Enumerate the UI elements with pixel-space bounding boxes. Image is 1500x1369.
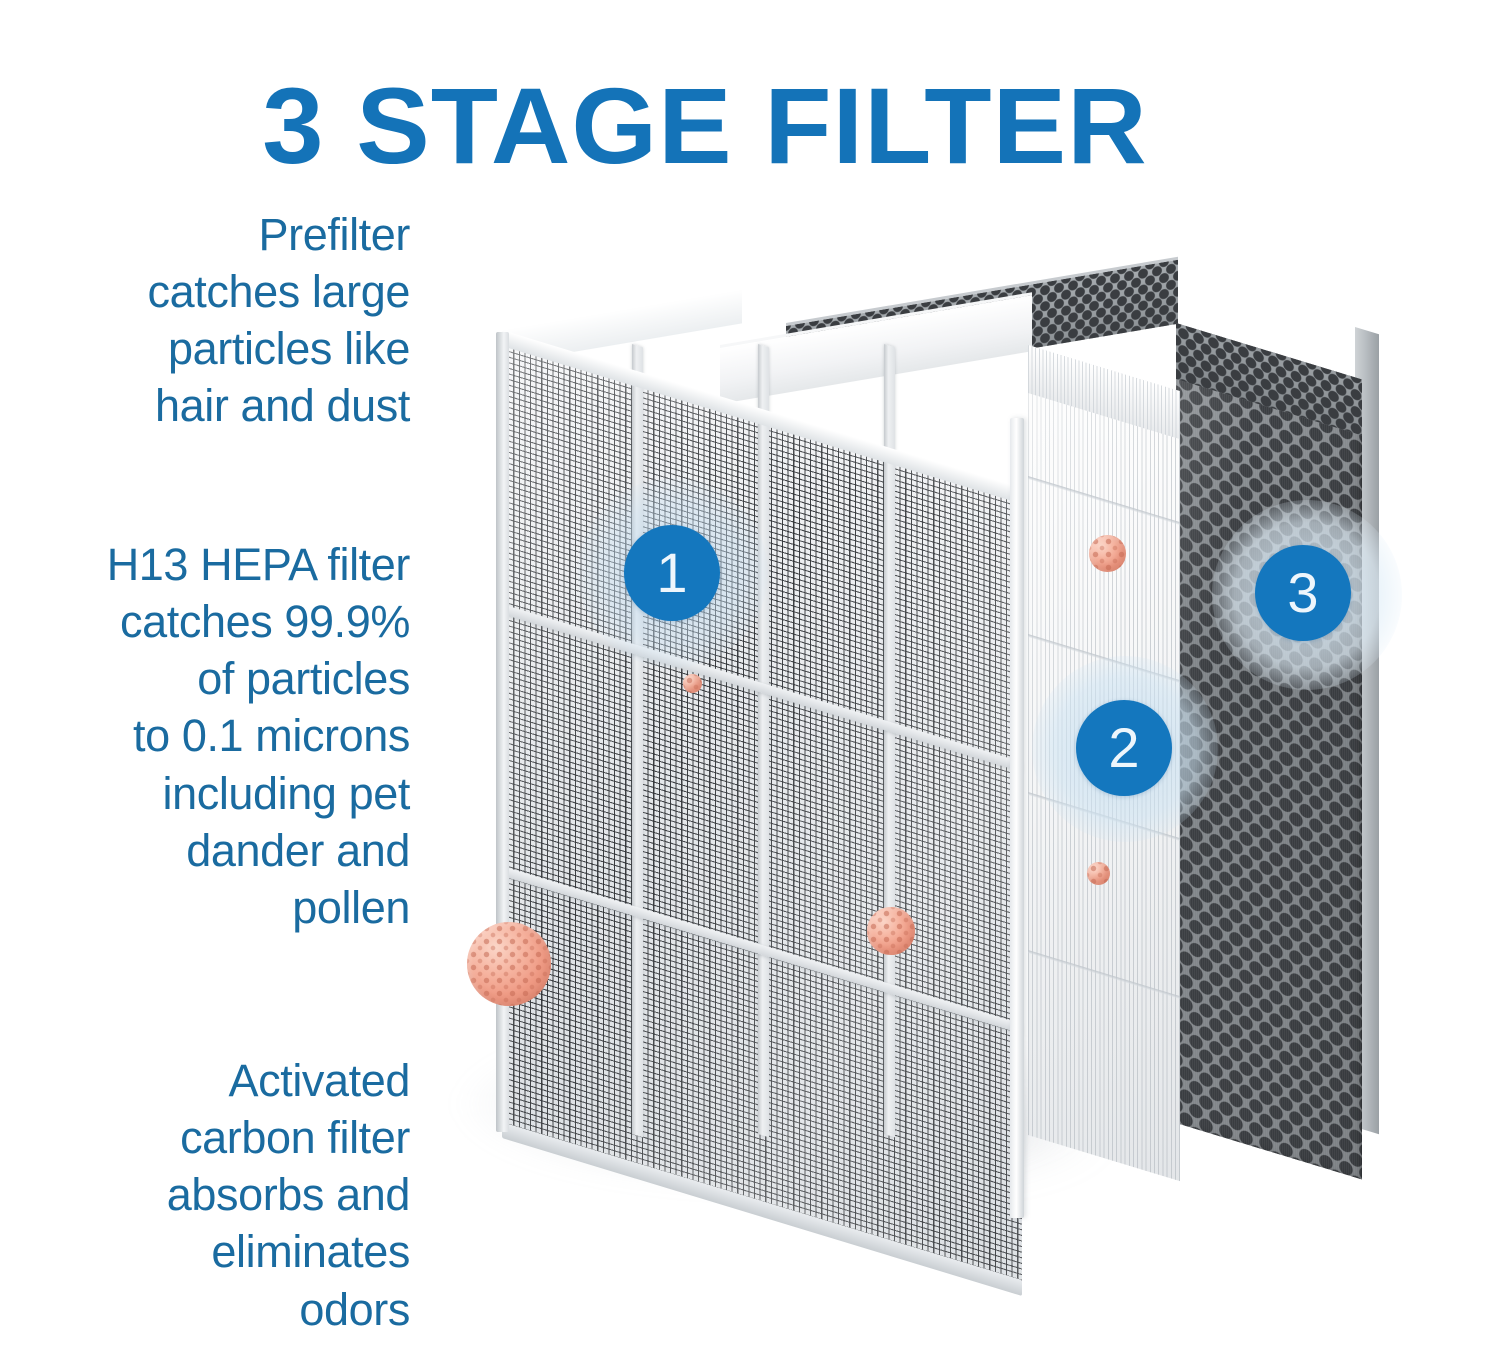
stage-1-badge[interactable]: 1	[624, 525, 720, 621]
pollen-texture	[1089, 535, 1126, 572]
pollen-particle-large	[450, 905, 568, 1023]
stage-2-badge[interactable]: 2	[1076, 700, 1172, 796]
pollen-particle	[1082, 857, 1115, 890]
pollen-particle	[858, 898, 924, 964]
infographic-canvas: 3 STAGE FILTER Prefilter catches large p…	[0, 0, 1500, 1369]
pollen-texture	[867, 907, 915, 955]
prefilter-frame-right	[1010, 418, 1024, 1218]
stage-3-badge[interactable]: 3	[1255, 545, 1351, 641]
filter-assembly-illustration: 3 2 1	[0, 0, 1500, 1369]
prefilter-mullion	[758, 344, 769, 1137]
pollen-particle	[1082, 528, 1133, 579]
pollen-particle	[679, 670, 706, 697]
prefilter-mullion	[632, 344, 643, 1137]
